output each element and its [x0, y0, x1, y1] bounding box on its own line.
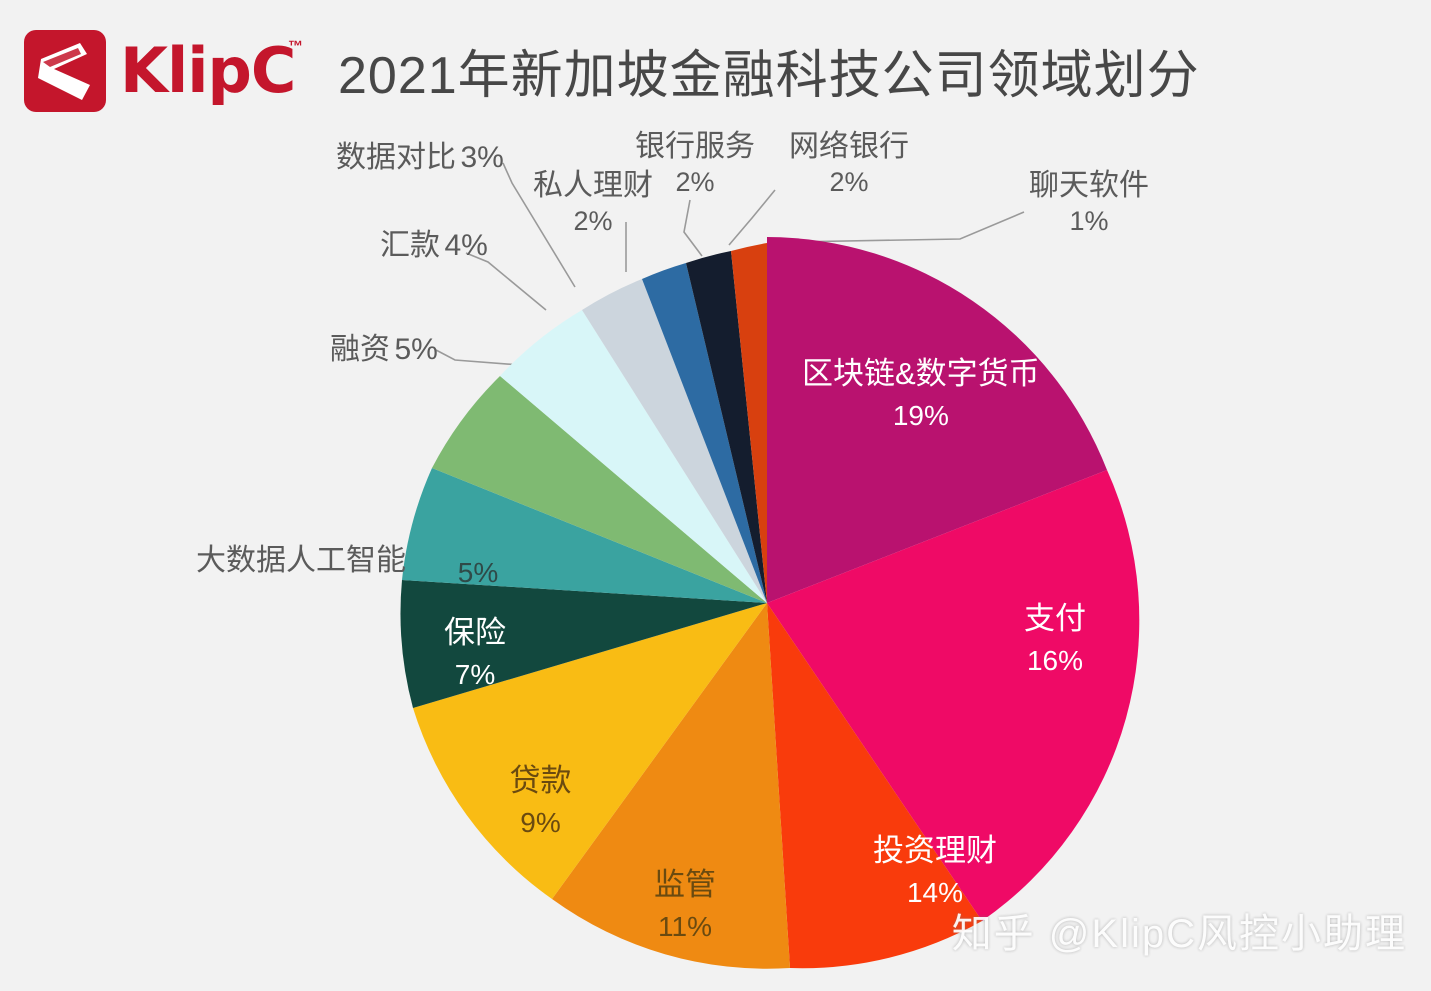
watermark: 知乎 @KlipC风控小助理: [952, 901, 1407, 959]
slice-label-datacompare: 数据对比 3%: [336, 140, 504, 177]
slice-label-remittance: 汇款 4%: [380, 228, 488, 265]
slice-label-netbank-pct: 2%: [829, 167, 868, 197]
slice-label-chat-name: 聊天软件: [1029, 169, 1149, 202]
chart-page: KlipC ™ 2021年新加坡金融科技公司领域划分: [0, 0, 1431, 991]
slice-label-bigdata-name-outer: 大数据人工智能: [196, 543, 406, 580]
slice-label-netbank-name: 网络银行: [789, 130, 909, 163]
slice-label-bigdata-name: 大数据人工智能: [196, 544, 406, 577]
slice-label-remittance-pct: 4%: [444, 229, 487, 262]
slice-label-financing-name: 融资: [330, 333, 390, 366]
slice-label-chat-pct: 1%: [1069, 206, 1108, 236]
pie-slices: [400, 237, 1139, 969]
slice-label-chat: 聊天软件 1%: [1026, 168, 1152, 238]
slice-label-banksvc-name: 银行服务: [635, 130, 755, 163]
pie-chart: 区块链&数字货币 19% 支付 16% 投资理财 14% 监管 11% 贷款 9…: [0, 0, 1431, 991]
slice-label-privwealth-pct: 2%: [573, 206, 612, 236]
slice-label-financing-pct: 5%: [394, 333, 437, 366]
slice-label-financing: 融资 5%: [330, 332, 438, 369]
slice-label-datacompare-pct: 3%: [460, 141, 503, 174]
slice-label-netbank: 网络银行 2%: [786, 129, 912, 199]
slice-label-banksvc: 银行服务 2%: [632, 129, 758, 199]
slice-label-remittance-name: 汇款: [380, 229, 440, 262]
slice-label-banksvc-pct: 2%: [675, 167, 714, 197]
slice-label-datacompare-name: 数据对比: [336, 141, 456, 174]
